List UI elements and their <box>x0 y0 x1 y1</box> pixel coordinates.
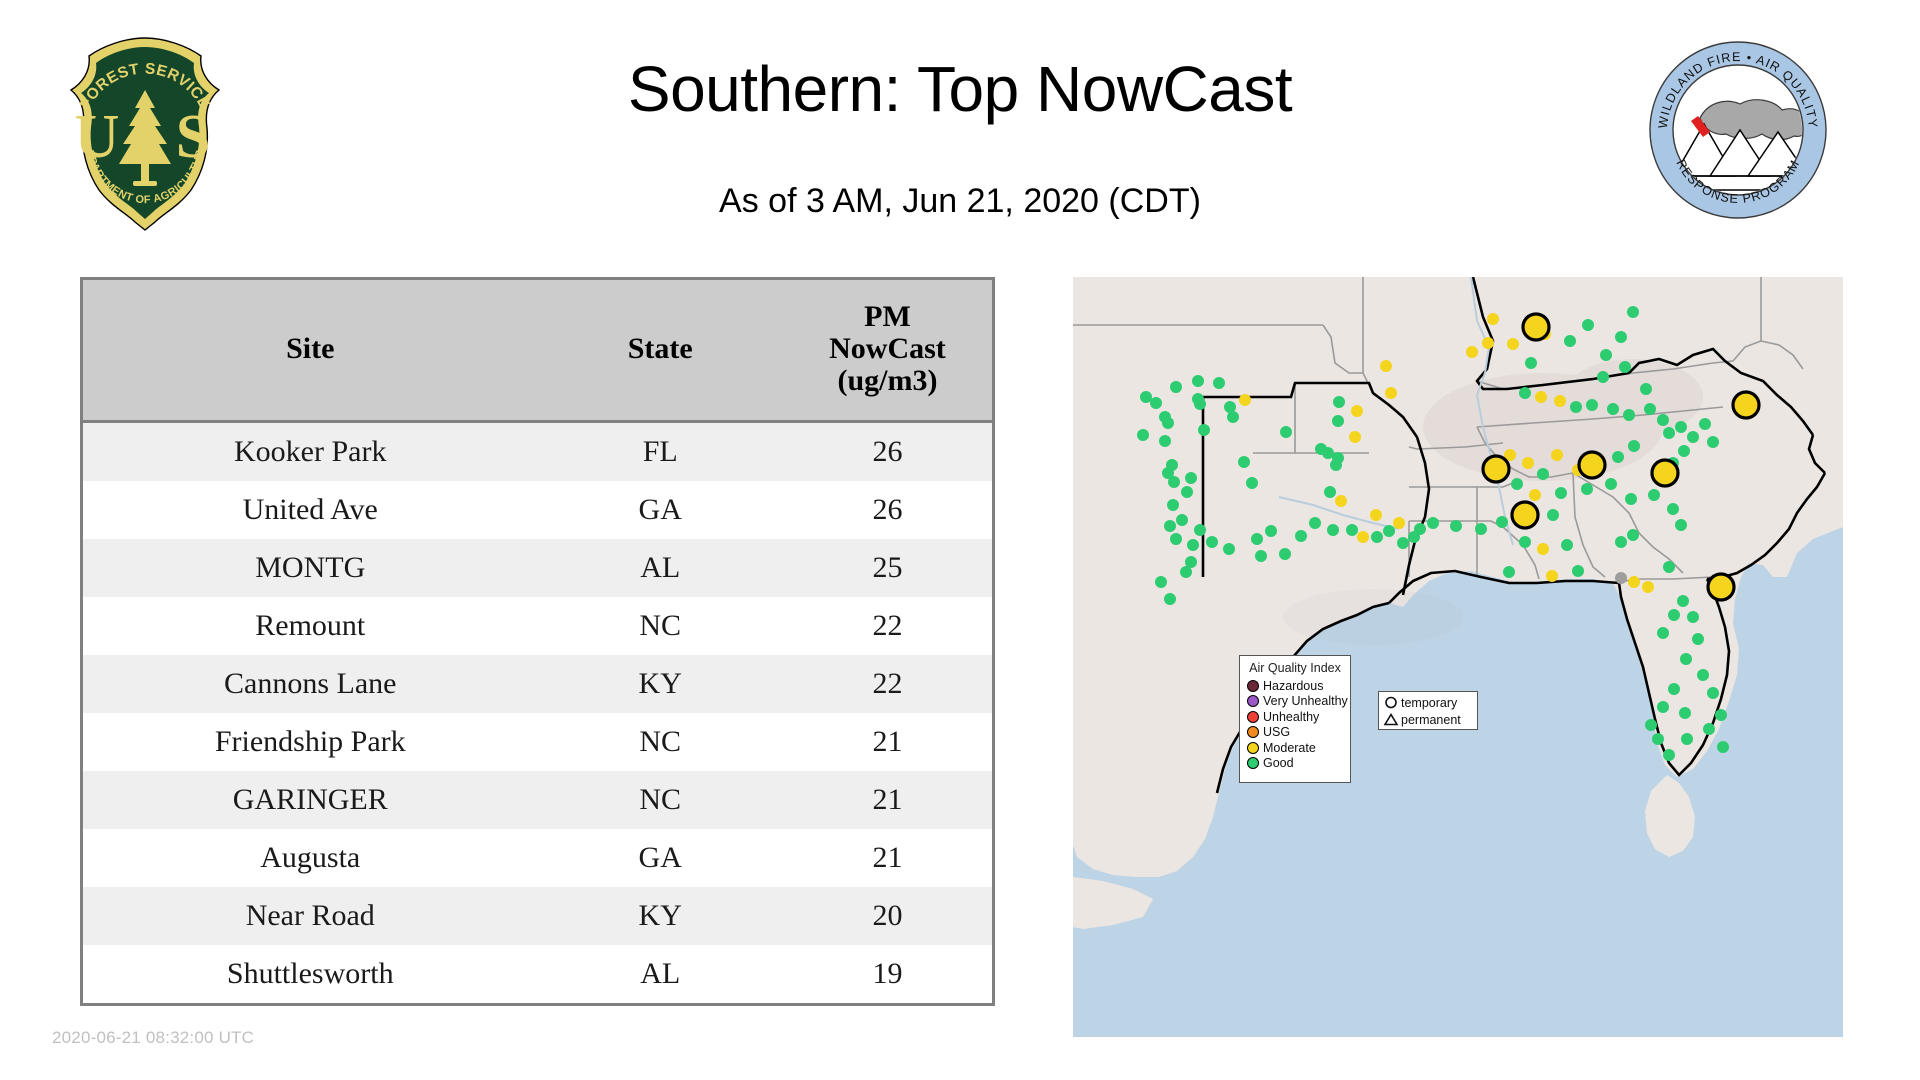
aqi-monitor-dot[interactable] <box>1397 537 1409 549</box>
aqi-monitor-dot[interactable] <box>1699 418 1711 430</box>
aqi-monitor-dot[interactable] <box>1605 478 1617 490</box>
table-row: Cannons LaneKY22 <box>83 655 992 713</box>
aqi-monitor-dot[interactable] <box>1503 566 1515 578</box>
aqi-monitor-dot[interactable] <box>1667 503 1679 515</box>
page-subtitle: As of 3 AM, Jun 21, 2020 (CDT) <box>280 182 1640 221</box>
aqi-monitor-dot[interactable] <box>1697 669 1709 681</box>
table-row: ShuttlesworthAL19 <box>83 945 992 1003</box>
aqi-monitor-dot[interactable] <box>1482 337 1494 349</box>
legend-label-permanent: permanent <box>1401 713 1461 727</box>
aqi-monitor-dot[interactable] <box>1680 653 1692 665</box>
cell-state: NC <box>538 597 783 655</box>
cell-state: FL <box>538 422 783 482</box>
table-body: Kooker ParkFL26United AveGA26MONTGAL25Re… <box>83 422 992 1004</box>
aqi-monitor-dot[interactable] <box>1371 531 1383 543</box>
aqi-monitor-dot[interactable] <box>1187 539 1199 551</box>
cell-site: GARINGER <box>83 771 538 829</box>
aqi-monitor-dot[interactable] <box>1657 701 1669 713</box>
aqi-legend-swatch <box>1247 757 1259 769</box>
slide-root: FOREST SERVICE DEPARTMENT OF AGRICULTURE… <box>0 0 1920 1080</box>
aqi-monitor-dot[interactable] <box>1663 749 1675 761</box>
aqi-monitor-dot[interactable] <box>1581 483 1593 495</box>
aqi-monitor-dot[interactable] <box>1351 405 1363 417</box>
aqi-monitor-dot[interactable] <box>1194 524 1206 536</box>
aqi-legend-item: Moderate <box>1247 740 1343 756</box>
aqi-legend-swatch <box>1247 695 1259 707</box>
aqi-monitor-dot[interactable] <box>1529 489 1541 501</box>
cell-state: NC <box>538 713 783 771</box>
aqi-monitor-dot[interactable] <box>1537 543 1549 555</box>
cell-state: NC <box>538 771 783 829</box>
aqi-legend-item: Very Unhealthy <box>1247 694 1343 710</box>
cell-pm-nowcast: 21 <box>783 829 992 887</box>
aqi-monitor-dot[interactable] <box>1185 472 1197 484</box>
aqi-monitor-map[interactable]: Air Quality Index HazardousVery Unhealth… <box>1073 277 1843 1037</box>
aqi-monitor-dot[interactable] <box>1675 519 1687 531</box>
aqi-legend: Air Quality Index HazardousVery Unhealth… <box>1239 655 1351 783</box>
usda-forest-service-logo: FOREST SERVICE DEPARTMENT OF AGRICULTURE… <box>55 32 235 232</box>
aqi-monitor-dot[interactable] <box>1150 397 1162 409</box>
aqi-monitor-dot[interactable] <box>1619 361 1631 373</box>
triangle-icon <box>1383 712 1399 727</box>
svg-text:U: U <box>75 103 120 171</box>
aqi-legend-label: Very Unhealthy <box>1263 694 1348 708</box>
aqi-monitor-dot[interactable] <box>1600 349 1612 361</box>
aqi-monitor-dot[interactable] <box>1162 417 1174 429</box>
aqi-legend-item: USG <box>1247 725 1343 741</box>
aqi-monitor-dot[interactable] <box>1176 514 1188 526</box>
aqi-monitor-dot[interactable] <box>1332 415 1344 427</box>
aqi-monitor-dot[interactable] <box>1335 495 1347 507</box>
column-header-state-label: State <box>628 332 693 365</box>
aqi-monitor-dot[interactable] <box>1537 468 1549 480</box>
aqi-monitor-dot[interactable] <box>1668 609 1680 621</box>
column-header-pm-line3: (ug/m3) <box>837 364 937 397</box>
aqi-monitor-dot[interactable] <box>1265 525 1277 537</box>
aqi-monitor-dot[interactable] <box>1535 391 1547 403</box>
aqi-monitor-dot[interactable] <box>1570 401 1582 413</box>
aqi-monitor-dot[interactable] <box>1525 357 1537 369</box>
aqi-monitor-dot[interactable] <box>1450 520 1462 532</box>
aqi-monitor-dot[interactable] <box>1324 486 1336 498</box>
aqi-monitor-dot[interactable] <box>1715 709 1727 721</box>
aqi-monitor-dot[interactable] <box>1280 426 1292 438</box>
aqi-monitor-dot[interactable] <box>1627 306 1639 318</box>
aqi-monitor-dot[interactable] <box>1370 509 1382 521</box>
aqi-monitor-dot[interactable] <box>1692 633 1704 645</box>
aqi-monitor-dot[interactable] <box>1137 429 1149 441</box>
cell-site: Shuttlesworth <box>83 945 538 1003</box>
aqi-monitor-dot[interactable] <box>1155 576 1167 588</box>
aqi-monitor-dot[interactable] <box>1475 523 1487 535</box>
legend-row-permanent: permanent <box>1383 711 1473 728</box>
aqi-monitor-dot[interactable] <box>1640 383 1652 395</box>
top-site-marker[interactable] <box>1483 456 1509 482</box>
aqi-monitor-dot[interactable] <box>1554 395 1566 407</box>
aqi-monitor-dot[interactable] <box>1707 687 1719 699</box>
column-header-site: Site <box>83 280 538 422</box>
aqi-legend-rows: HazardousVery UnhealthyUnhealthyUSGModer… <box>1247 678 1343 771</box>
column-header-pm-line1: PM <box>864 300 911 333</box>
aqi-monitor-dot[interactable] <box>1627 529 1639 541</box>
aqi-legend-label: Hazardous <box>1263 679 1323 693</box>
top-site-marker[interactable] <box>1652 460 1678 486</box>
aqi-monitor-dot[interactable] <box>1687 611 1699 623</box>
aqi-legend-swatch <box>1247 742 1259 754</box>
aqi-legend-title: Air Quality Index <box>1247 661 1343 675</box>
aqi-monitor-dot[interactable] <box>1612 451 1624 463</box>
aqi-monitor-dot[interactable] <box>1168 476 1180 488</box>
aqi-monitor-dot[interactable] <box>1551 449 1563 461</box>
aqi-legend-swatch <box>1247 680 1259 692</box>
nowcast-table: Site State PM NowCast (ug/m3) Kooker Par… <box>83 280 992 1003</box>
aqi-monitor-dot[interactable] <box>1642 581 1654 593</box>
aqi-monitor-dot[interactable] <box>1159 435 1171 447</box>
table-header-row: Site State PM NowCast (ug/m3) <box>83 280 992 422</box>
aqi-monitor-dot[interactable] <box>1346 524 1358 536</box>
table-row: Kooker ParkFL26 <box>83 422 992 482</box>
aqi-monitor-dot[interactable] <box>1170 381 1182 393</box>
aqi-monitor-dot[interactable] <box>1687 431 1699 443</box>
cell-pm-nowcast: 22 <box>783 597 992 655</box>
aqi-monitor-dot[interactable] <box>1561 539 1573 551</box>
aqi-monitor-dot[interactable] <box>1597 371 1609 383</box>
aqi-monitor-dot[interactable] <box>1679 707 1691 719</box>
cell-pm-nowcast: 19 <box>783 945 992 1003</box>
aqi-monitor-dot[interactable] <box>1238 456 1250 468</box>
aqi-monitor-dot[interactable] <box>1194 398 1206 410</box>
aqi-monitor-dot[interactable] <box>1393 517 1405 529</box>
cell-site: MONTG <box>83 539 538 597</box>
cell-site: Augusta <box>83 829 538 887</box>
circle-icon <box>1383 695 1399 710</box>
aqi-legend-swatch <box>1247 711 1259 723</box>
cell-site: United Ave <box>83 481 538 539</box>
table-head: Site State PM NowCast (ug/m3) <box>83 280 992 422</box>
aqi-monitor-dot[interactable] <box>1663 427 1675 439</box>
aqi-monitor-dot[interactable] <box>1507 338 1519 350</box>
aqi-legend-label: Good <box>1263 756 1294 770</box>
aqi-monitor-dot[interactable] <box>1213 377 1225 389</box>
cell-state: KY <box>538 655 783 713</box>
aqi-monitor-dot[interactable] <box>1519 536 1531 548</box>
aqi-monitor-dot[interactable] <box>1295 530 1307 542</box>
aqi-monitor-dot[interactable] <box>1645 719 1657 731</box>
cell-pm-nowcast: 25 <box>783 539 992 597</box>
aqi-monitor-dot[interactable] <box>1487 313 1499 325</box>
aqi-monitor-dot[interactable] <box>1206 536 1218 548</box>
page-title: Southern: Top NowCast <box>280 52 1640 126</box>
cell-state: AL <box>538 539 783 597</box>
aqi-monitor-dot[interactable] <box>1309 517 1321 529</box>
table-row: MONTGAL25 <box>83 539 992 597</box>
aqi-monitor-dot[interactable] <box>1546 570 1558 582</box>
aqi-legend-item: Hazardous <box>1247 678 1343 694</box>
map-canvas <box>1073 277 1843 1037</box>
aqi-monitor-dot[interactable] <box>1675 421 1687 433</box>
nowcast-table-container: Site State PM NowCast (ug/m3) Kooker Par… <box>80 277 995 1006</box>
aqi-monitor-dot[interactable] <box>1677 595 1689 607</box>
aqi-legend-label: Moderate <box>1263 741 1316 755</box>
aqi-monitor-dot[interactable] <box>1572 565 1584 577</box>
aqi-legend-label: USG <box>1263 725 1290 739</box>
cell-pm-nowcast: 26 <box>783 481 992 539</box>
aqi-monitor-dot[interactable] <box>1279 548 1291 560</box>
column-header-state: State <box>538 280 783 422</box>
cell-state: AL <box>538 945 783 1003</box>
aqi-monitor-dot[interactable] <box>1648 489 1660 501</box>
aqi-monitor-dot[interactable] <box>1255 550 1267 562</box>
aqi-monitor-dot[interactable] <box>1707 436 1719 448</box>
aqi-monitor-dot[interactable] <box>1615 331 1627 343</box>
aqi-legend-item: Good <box>1247 756 1343 772</box>
aqi-monitor-dot[interactable] <box>1357 531 1369 543</box>
cell-pm-nowcast: 22 <box>783 655 992 713</box>
cell-site: Friendship Park <box>83 713 538 771</box>
table-row: Friendship ParkNC21 <box>83 713 992 771</box>
aqi-monitor-dot[interactable] <box>1198 424 1210 436</box>
aqi-monitor-dot[interactable] <box>1192 375 1204 387</box>
aqi-monitor-dot[interactable] <box>1333 396 1345 408</box>
aqi-monitor-dot[interactable] <box>1564 335 1576 347</box>
cell-state: GA <box>538 829 783 887</box>
aqi-monitor-dot[interactable] <box>1657 627 1669 639</box>
cell-state: GA <box>538 481 783 539</box>
cell-site: Kooker Park <box>83 422 538 482</box>
top-site-marker[interactable] <box>1512 502 1538 528</box>
monitor-type-legend: temporary permanent <box>1378 691 1478 730</box>
aqi-monitor-dot[interactable] <box>1427 517 1439 529</box>
top-site-marker[interactable] <box>1708 574 1734 600</box>
aqi-monitor-dot[interactable] <box>1519 387 1531 399</box>
aqi-legend-label: Unhealthy <box>1263 710 1319 724</box>
aqi-monitor-dot[interactable] <box>1681 733 1693 745</box>
aqi-monitor-dot[interactable] <box>1623 409 1635 421</box>
column-header-site-label: Site <box>286 332 334 365</box>
aqi-monitor-dot[interactable] <box>1327 524 1339 536</box>
aqi-monitor-dot[interactable] <box>1170 533 1182 545</box>
aqi-monitor-dot[interactable] <box>1582 319 1594 331</box>
forest-service-shield-icon: FOREST SERVICE DEPARTMENT OF AGRICULTURE… <box>55 32 235 232</box>
cell-site: Cannons Lane <box>83 655 538 713</box>
top-site-marker[interactable] <box>1523 314 1549 340</box>
table-row: United AveGA26 <box>83 481 992 539</box>
aqi-monitor-dot[interactable] <box>1678 445 1690 457</box>
aqi-legend-item: Unhealthy <box>1247 709 1343 725</box>
aqi-monitor-dot[interactable] <box>1555 487 1567 499</box>
aqi-monitor-dot[interactable] <box>1703 723 1715 735</box>
aqi-monitor-dot[interactable] <box>1239 394 1251 406</box>
aqi-monitor-dot[interactable] <box>1330 459 1342 471</box>
aqi-monitor-dot[interactable] <box>1223 543 1235 555</box>
aqi-monitor-dot[interactable] <box>1164 520 1176 532</box>
column-header-pm-line2: NowCast <box>829 332 946 365</box>
generation-timestamp: 2020-06-21 08:32:00 UTC <box>52 1028 254 1048</box>
cell-site: Remount <box>83 597 538 655</box>
wildland-fire-air-quality-logo: WILDLAND FIRE • AIR QUALITY RESPONSE PRO… <box>1648 40 1828 220</box>
cell-pm-nowcast: 20 <box>783 887 992 945</box>
cell-pm-nowcast: 21 <box>783 713 992 771</box>
aqi-monitor-dot[interactable] <box>1511 478 1523 490</box>
aqi-monitor-dot[interactable] <box>1547 509 1559 521</box>
aqi-monitor-dot[interactable] <box>1181 486 1193 498</box>
aqi-monitor-dot[interactable] <box>1414 523 1426 535</box>
legend-row-temporary: temporary <box>1383 694 1473 711</box>
aqi-monitor-dot[interactable] <box>1385 387 1397 399</box>
aqi-monitor-dot[interactable] <box>1246 477 1258 489</box>
aqi-monitor-dot[interactable] <box>1227 411 1239 423</box>
aqi-monitor-dot[interactable] <box>1496 516 1508 528</box>
top-site-marker[interactable] <box>1579 452 1605 478</box>
wfaq-seal-icon: WILDLAND FIRE • AIR QUALITY RESPONSE PRO… <box>1648 40 1828 220</box>
table-row: Near RoadKY20 <box>83 887 992 945</box>
aqi-monitor-dot[interactable] <box>1628 576 1640 588</box>
aqi-monitor-dot[interactable] <box>1668 683 1680 695</box>
aqi-monitor-dot[interactable] <box>1717 741 1729 753</box>
aqi-monitor-dot[interactable] <box>1652 733 1664 745</box>
aqi-monitor-dot[interactable] <box>1615 572 1627 584</box>
aqi-monitor-dot[interactable] <box>1167 499 1179 511</box>
aqi-monitor-dot[interactable] <box>1522 457 1534 469</box>
aqi-monitor-dot[interactable] <box>1628 440 1640 452</box>
aqi-monitor-dot[interactable] <box>1251 533 1263 545</box>
cell-pm-nowcast: 26 <box>783 422 992 482</box>
aqi-monitor-dot[interactable] <box>1380 360 1392 372</box>
aqi-monitor-dot[interactable] <box>1383 525 1395 537</box>
aqi-monitor-dot[interactable] <box>1349 431 1361 443</box>
aqi-monitor-dot[interactable] <box>1625 493 1637 505</box>
table-row: GARINGERNC21 <box>83 771 992 829</box>
svg-text:S: S <box>176 103 210 171</box>
aqi-legend-swatch <box>1247 726 1259 738</box>
cell-site: Near Road <box>83 887 538 945</box>
aqi-monitor-dot[interactable] <box>1164 593 1176 605</box>
top-site-marker[interactable] <box>1733 392 1759 418</box>
aqi-monitor-dot[interactable] <box>1663 561 1675 573</box>
cell-state: KY <box>538 887 783 945</box>
aqi-monitor-dot[interactable] <box>1644 403 1656 415</box>
aqi-monitor-dot[interactable] <box>1140 391 1152 403</box>
aqi-monitor-dot[interactable] <box>1657 414 1669 426</box>
aqi-monitor-dot[interactable] <box>1466 346 1478 358</box>
aqi-monitor-dot[interactable] <box>1615 536 1627 548</box>
aqi-monitor-dot[interactable] <box>1586 399 1598 411</box>
aqi-monitor-dot[interactable] <box>1607 403 1619 415</box>
table-row: AugustaGA21 <box>83 829 992 887</box>
legend-label-temporary: temporary <box>1401 696 1457 710</box>
table-row: RemountNC22 <box>83 597 992 655</box>
cell-pm-nowcast: 21 <box>783 771 992 829</box>
aqi-monitor-dot[interactable] <box>1185 556 1197 568</box>
column-header-pm-nowcast: PM NowCast (ug/m3) <box>783 280 992 422</box>
